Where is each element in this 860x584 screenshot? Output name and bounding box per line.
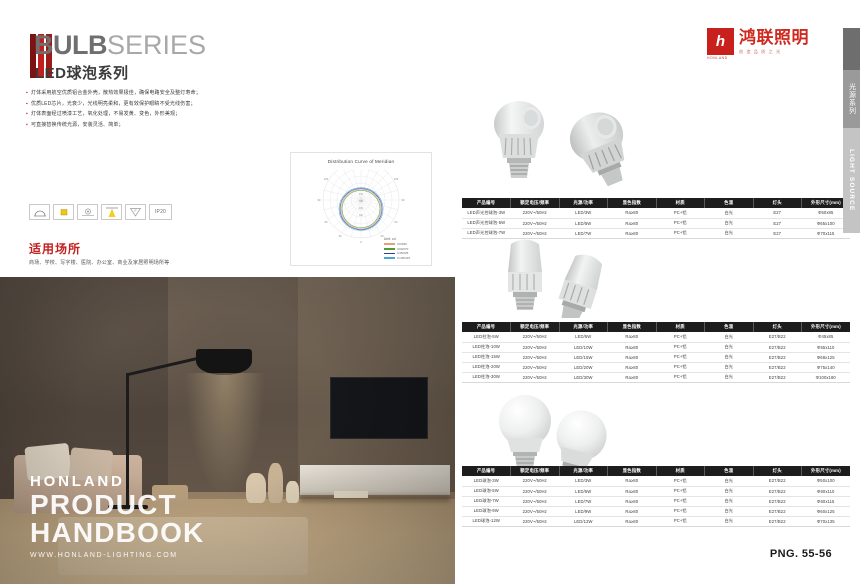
page-title: BULBSERIES [34,30,206,61]
cell: Ra≥80 [608,342,657,352]
svg-text:600: 600 [359,214,364,217]
col-material: 材质 [656,466,705,476]
ce-mark-icon: F [125,204,146,220]
cell: LED柱泡-10W [462,342,511,352]
cell: PC+铝 [656,332,705,342]
cell: Ra≥80 [608,208,657,218]
side-tab-en-label: LIGHT SOURCE [848,149,855,211]
brand-url[interactable]: WWW.HONLAND-LIGHTING.COM [30,552,204,559]
cell: LED/30W [559,372,608,382]
legend-item: C90/270 [384,247,426,251]
cell: 白光 [705,506,754,516]
col-cri: 显色指数 [608,322,657,332]
cell: E27/B22 [753,362,802,372]
svg-text:300: 300 [359,200,364,203]
feature-item: 灯体采用航空优质铝合金外壳，散热效果极佳，确保电路安全及整灯寿命； [26,88,286,99]
cell: E27 [753,228,802,238]
cell: E27/B22 [753,496,802,506]
col-color-temp: 色温 [705,322,754,332]
cell: 220V~/50Hz [511,476,560,486]
cell: E27/B22 [753,506,802,516]
logo-company-name: 鸿联照明 [739,29,809,46]
sensor-bulb-image [477,96,657,192]
cell: 白光 [705,218,754,228]
side-tab-cn-label: 光源系列 [847,83,857,115]
table-row: LED柱泡-15W220V~/50HzLED/15WRa≥80PC+铝白光E27… [462,352,850,362]
cell: LED/10W [559,342,608,352]
cell: Ra≥80 [608,496,657,506]
interior-photo: HONLAND PRODUCT HANDBOOK WWW.HONLAND-LIG… [0,277,455,584]
cell: LED/9W [559,506,608,516]
cell: E27/B22 [753,352,802,362]
cell: 220V~/50Hz [511,516,560,526]
cell: LED声光控球泡-5W [462,218,511,228]
col-product-code: 产品编号 [462,466,511,476]
cell: Ra≥80 [608,486,657,496]
chip-icon [53,204,74,220]
cell: 白光 [705,486,754,496]
brand-line-product: PRODUCT [30,491,204,519]
table-row: LED柱泡-30W220V~/50HzLED/30WRa≥80PC+铝白光E27… [462,372,850,382]
legend-item: C135/315 [384,256,426,260]
svg-text:60: 60 [395,220,398,224]
cell: 白光 [705,362,754,372]
cell: Ra≥80 [608,352,657,362]
col-source-power: 光源/功率 [559,466,608,476]
cell: PC+铝 [656,208,705,218]
cell: PC+铝 [656,372,705,382]
logo-mark-icon: h [707,28,734,55]
housing-icon [29,204,50,220]
col-base: 灯头 [753,466,802,476]
cell: E27/B22 [753,516,802,526]
cell: LED/5W [559,332,608,342]
column-bulb-image [479,232,659,318]
svg-text:90: 90 [402,198,405,202]
cell: Ra≥80 [608,372,657,382]
cell: Φ60x115 [802,496,851,506]
svg-text:60: 60 [325,220,328,224]
cell: Φ68x125 [802,352,851,362]
cell: Ra≥80 [608,506,657,516]
cell: 220V~/50Hz [511,506,560,516]
table-row: LED球泡-7W220V~/50HzLED/7WRa≥80PC+铝白光E27/B… [462,496,850,506]
side-tab-cap [843,28,860,70]
cell: E27/B22 [753,342,802,352]
cell: Ra≥80 [608,332,657,342]
cell: PC+铝 [656,342,705,352]
legend-label: C135/315 [397,256,410,260]
cell: 220V~/50Hz [511,496,560,506]
svg-text:90: 90 [318,198,321,202]
legend-item: C45/225 [384,251,426,255]
legend-swatch [384,248,395,250]
applicable-places-title: 适用场所 [29,240,81,257]
column-bulb-table: 产品编号 额定电压/频率 光源/功率 显色指数 材质 色温 灯头 外形尺寸(mm… [462,322,850,383]
legend-swatch [384,257,395,259]
cell: 220V~/50Hz [511,372,560,382]
cell: Φ70x135 [802,516,851,526]
cell: 220V~/50Hz [511,342,560,352]
table-row: LED球泡-12W220V~/50HzLED/12WRa≥80PC+铝白光E27… [462,516,850,526]
cell: PC+铝 [656,362,705,372]
cell: E27/B22 [753,372,802,382]
cell: Φ100x180 [802,372,851,382]
col-cri: 显色指数 [608,198,657,208]
cell: 白光 [705,208,754,218]
cell: Φ50x100 [802,476,851,486]
brand-name: HONLAND [30,473,204,490]
cell: PC+铝 [656,218,705,228]
table-row: LED柱泡-10W220V~/50HzLED/10WRa≥80PC+铝白光E27… [462,342,850,352]
legend-label: C0/180 [397,242,407,246]
cell: Ra≥80 [608,218,657,228]
cell: 白光 [705,516,754,526]
col-source-power: 光源/功率 [559,322,608,332]
chart-legend: Unit: cd C0/180 C90/270 C45/225 C135/315 [384,237,426,261]
cell: LED球泡-5W [462,486,511,496]
svg-text:120: 120 [324,177,329,181]
legend-label: C90/270 [397,247,408,251]
col-voltage: 额定电压/频率 [511,466,560,476]
cell: 白光 [705,228,754,238]
feature-list: 灯体采用航空优质铝合金外壳，散热效果极佳，确保电路安全及整灯寿命； 优质LED芯… [26,88,286,130]
legend-swatch [384,253,395,255]
cell: LED/5W [559,486,608,496]
cell: LED球泡-9W [462,506,511,516]
cell: E27 [753,218,802,228]
cell: 白光 [705,332,754,342]
cell: 白光 [705,496,754,506]
col-voltage: 额定电压/频率 [511,322,560,332]
cell: LED球泡-7W [462,496,511,506]
cell: PC+铝 [656,516,705,526]
logo-mark-letter: h [716,34,725,49]
cell: LED/5W [559,218,608,228]
cell: E27/B22 [753,476,802,486]
feature-item: 可直接替换传统光源，安装灵活、简单； [26,120,286,131]
cell: E27/B22 [753,332,802,342]
page-number: PNG. 55-56 [770,548,832,560]
cell: LED/3W [559,208,608,218]
col-color-temp: 色温 [705,466,754,476]
svg-text:150: 150 [359,193,364,196]
cell: E27 [753,208,802,218]
ball-bulb-table: 产品编号 额定电压/频率 光源/功率 显色指数 材质 色温 灯头 外形尺寸(mm… [462,466,850,527]
cell: PC+铝 [656,496,705,506]
cell: LED柱泡-5W [462,332,511,342]
cell: LED柱泡-15W [462,352,511,362]
col-base: 灯头 [753,322,802,332]
legend-item: C0/180 [384,242,426,246]
cell: 220V~/50Hz [511,352,560,362]
cell: Φ60x125 [802,506,851,516]
cell: 220V~/50Hz [511,218,560,228]
cell: E27/B22 [753,486,802,496]
cell: PC+铝 [656,352,705,362]
cell: LED/15W [559,352,608,362]
cell: 白光 [705,476,754,486]
cell: 220V~/50Hz [511,486,560,496]
col-dimensions: 外形尺寸(mm) [802,322,851,332]
cell: 220V~/50Hz [511,332,560,342]
legend-label: C45/225 [397,251,408,255]
left-column: BULBSERIES LED球泡系列 灯体采用航空优质铝合金外壳，散热效果极佳，… [0,0,455,584]
distribution-curve-chart: Distribution Curve of Meridian [290,152,432,266]
chart-title: Distribution Curve of Meridian [291,159,431,164]
svg-text:450: 450 [359,207,364,210]
right-column: h 鸿联照明 创造品质之光 HONLAND [455,0,860,584]
beam-angle-icon [101,204,122,220]
feature-item: 灯体表面经过喷漆工艺，氧化处理，不易发黄、变色，外形美观； [26,109,286,120]
catalog-page: BULBSERIES LED球泡系列 灯体采用航空优质铝合金外壳，散热效果极佳，… [0,0,860,584]
cell: PC+铝 [656,228,705,238]
brand-overlay: HONLAND PRODUCT HANDBOOK WWW.HONLAND-LIG… [30,473,204,559]
brand-line-handbook: HANDBOOK [30,519,204,547]
svg-text:F: F [134,209,136,213]
col-product-code: 产品编号 [462,322,511,332]
side-tab-en: LIGHT SOURCE [843,128,860,233]
cell: 220V~/50Hz [511,362,560,372]
cell: LED球泡-3W [462,476,511,486]
page-title-bold: BULB [34,30,107,60]
cell: Ra≥80 [608,362,657,372]
svg-text:120: 120 [394,177,399,181]
logo-mark-subtext: HONLAND [707,56,728,60]
applicable-places-text: 商场、学校、写字楼、医院、办公室、商业及家居照明场所等 [29,259,169,266]
page-title-thin: SERIES [107,30,206,60]
cell: LED柱泡-20W [462,362,511,372]
cell: LED声光控球泡-3W [462,208,511,218]
col-base: 灯头 [753,198,802,208]
table-header-row: 产品编号 额定电压/频率 光源/功率 显色指数 材质 色温 灯头 外形尺寸(mm… [462,198,850,208]
cell: Ra≥80 [608,516,657,526]
cell: PC+铝 [656,486,705,496]
col-color-temp: 色温 [705,198,754,208]
logo-tagline: 创造品质之光 [739,49,809,55]
col-cri: 显色指数 [608,466,657,476]
section-side-tab: 光源系列 LIGHT SOURCE [843,28,860,233]
col-product-code: 产品编号 [462,198,511,208]
col-material: 材质 [656,198,705,208]
eye-protect-icon [77,204,98,220]
cell: LED球泡-12W [462,516,511,526]
table-row: LED球泡-3W220V~/50HzLED/3WRa≥80PC+铝白光E27/B… [462,476,850,486]
cell: LED/3W [559,476,608,486]
col-dimensions: 外形尺寸(mm) [802,466,851,476]
ball-bulb-image [475,392,655,472]
cell: Φ45x85 [802,332,851,342]
cell: LED/7W [559,496,608,506]
ip-rating-icon: IP20 [149,204,172,220]
cell: Φ60x110 [802,486,851,496]
table-row: LED球泡-9W220V~/50HzLED/9WRa≥80PC+铝白光E27/B… [462,506,850,516]
cell: LED/20W [559,362,608,372]
cell: 白光 [705,372,754,382]
table-header-row: 产品编号 额定电压/频率 光源/功率 显色指数 材质 色温 灯头 外形尺寸(mm… [462,466,850,476]
spec-icon-row: F IP20 [29,204,172,220]
table-row: LED柱泡-20W220V~/50HzLED/20WRa≥80PC+铝白光E27… [462,362,850,372]
col-material: 材质 [656,322,705,332]
cell: 白光 [705,352,754,362]
col-source-power: 光源/功率 [559,198,608,208]
cell: Ra≥80 [608,476,657,486]
cell: PC+铝 [656,476,705,486]
cell: LED柱泡-30W [462,372,511,382]
legend-title: Unit: cd [384,237,426,241]
table-row: LED声光控球泡-5W220V~/50HzLED/5WRa≥80PC+铝白光E2… [462,218,850,228]
svg-text:30: 30 [339,234,342,238]
side-tab-cn: 光源系列 [843,70,860,128]
table-row: LED球泡-5W220V~/50HzLED/5WRa≥80PC+铝白光E27/B… [462,486,850,496]
col-voltage: 额定电压/频率 [511,198,560,208]
table-header-row: 产品编号 额定电压/频率 光源/功率 显色指数 材质 色温 灯头 外形尺寸(mm… [462,322,850,332]
cell: 220V~/50Hz [511,208,560,218]
cell: 白光 [705,342,754,352]
page-subtitle: LED球泡系列 [35,62,129,83]
feature-item: 优质LED芯片，光衰少，光线明亮柔和，更有效保护眼睛不受光线伤害； [26,99,286,110]
legend-swatch [384,243,395,245]
cell: Φ55x110 [802,342,851,352]
cell: Φ75x140 [802,362,851,372]
svg-text:0: 0 [360,240,362,244]
table-row: LED声光控球泡-3W220V~/50HzLED/3WRa≥80PC+铝白光E2… [462,208,850,218]
table-row: LED柱泡-5W220V~/50HzLED/5WRa≥80PC+铝白光E27/B… [462,332,850,342]
cell: PC+铝 [656,506,705,516]
cell: LED/12W [559,516,608,526]
company-logo: h 鸿联照明 创造品质之光 [707,28,809,55]
